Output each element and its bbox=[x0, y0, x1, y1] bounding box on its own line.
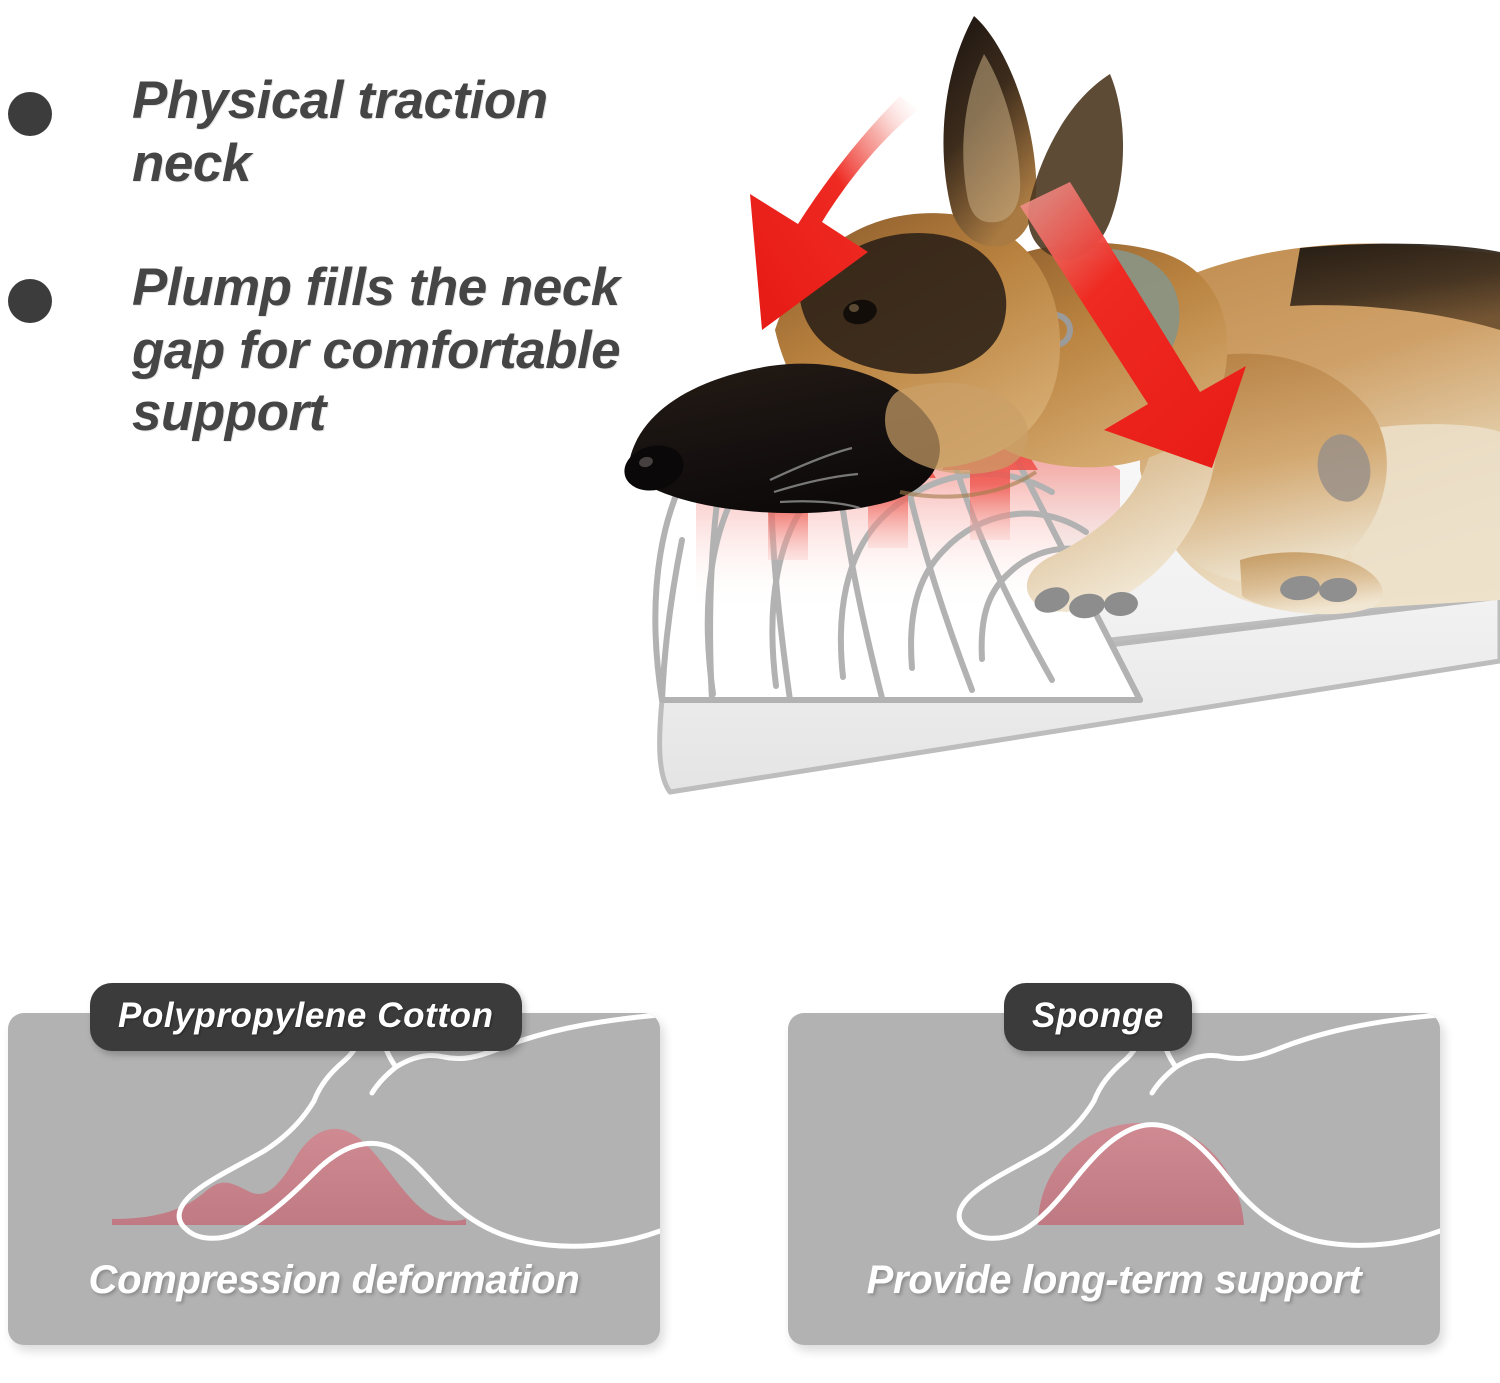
panel-label-sponge: Sponge bbox=[1004, 983, 1192, 1051]
feature-bullet-list: Physical traction neck Plump fills the n… bbox=[0, 70, 660, 507]
panel-illustration-supportive-dome bbox=[788, 1013, 1440, 1273]
infographic-page: Physical traction neck Plump fills the n… bbox=[0, 0, 1500, 1383]
panel-caption-compression-deformation: Compression deformation bbox=[8, 1258, 660, 1303]
comparison-panel-polypropylene-cotton: Polypropylene Cotton Compression deforma… bbox=[8, 1013, 660, 1345]
panel-illustration-collapsed-pillow bbox=[8, 1013, 660, 1273]
material-comparison-section: Polypropylene Cotton Compression deforma… bbox=[0, 975, 1500, 1375]
dog-bed-illustration bbox=[600, 0, 1500, 880]
feature-bullet-label: Physical traction neck bbox=[132, 70, 660, 195]
feature-bullet-item: Physical traction neck bbox=[0, 70, 660, 195]
panel-caption-long-term-support: Provide long-term support bbox=[788, 1258, 1440, 1303]
panel-label-polypropylene-cotton: Polypropylene Cotton bbox=[90, 983, 522, 1051]
bullet-dot-icon bbox=[8, 279, 52, 323]
bullet-dot-icon bbox=[8, 92, 52, 136]
feature-bullet-item: Plump fills the neck gap for comfortable… bbox=[0, 257, 660, 445]
hero-section: Physical traction neck Plump fills the n… bbox=[0, 0, 1500, 900]
feature-bullet-label: Plump fills the neck gap for comfortable… bbox=[132, 257, 660, 445]
comparison-panel-sponge: Sponge Provide long-term support bbox=[788, 1013, 1440, 1345]
